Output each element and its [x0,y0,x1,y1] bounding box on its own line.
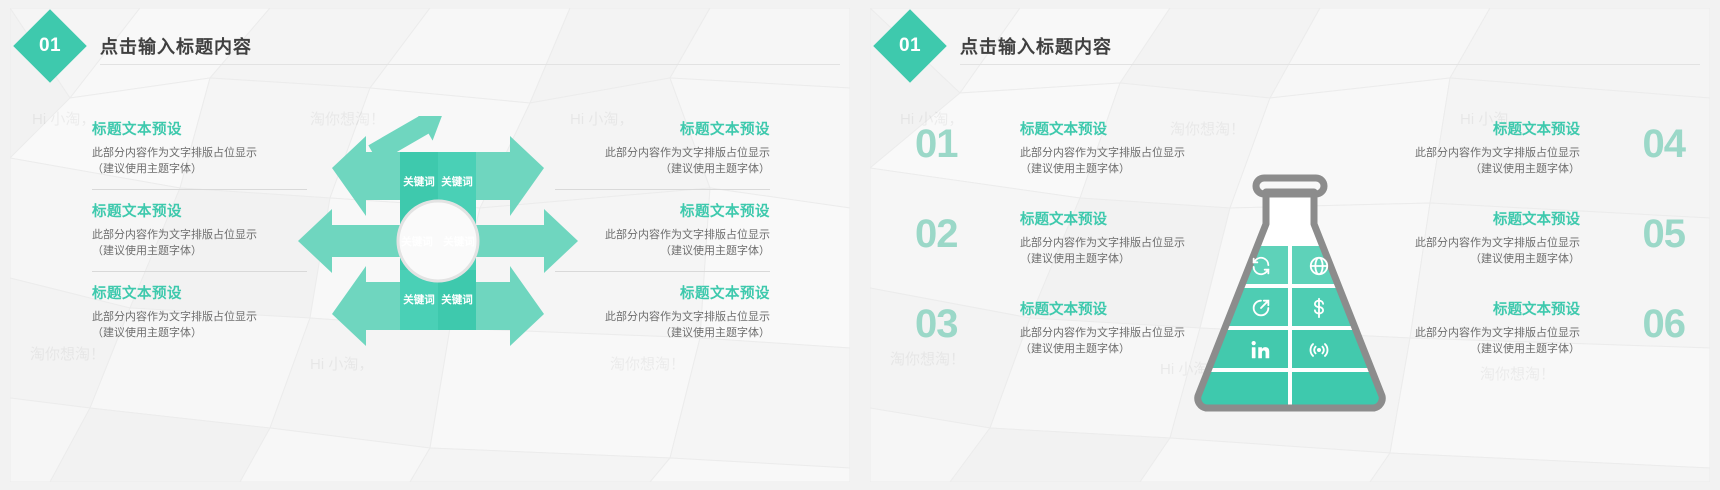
list-item-02: 02 标题文本预设 此部分内容作为文字排版占位显示 （建议使用主题字体） [915,208,1195,268]
list-item-04-line2: （建议使用主题字体） [1405,162,1580,178]
globe-icon [1306,253,1332,279]
dollar-icon [1306,295,1332,321]
slide-right: 01 点击输入标题内容 Hi 小淘， 淘你想淘！ Hi 小淘， 淘你想淘！ Hi… [860,0,1720,490]
slide-right-content: 01 点击输入标题内容 Hi 小淘， 淘你想淘！ Hi 小淘， 淘你想淘！ Hi… [870,8,1710,482]
text-block-2: 标题文本预设 此部分内容作为文字排版占位显示 （建议使用主题字体） [92,200,307,272]
list-item-06-line1: 此部分内容作为文字排版占位显示 [1405,326,1580,342]
list-item-04-number: 04 [1643,124,1686,164]
list-item-03: 03 标题文本预设 此部分内容作为文字排版占位显示 （建议使用主题字体） [915,298,1195,358]
slide-right-title: 点击输入标题内容 [960,33,1112,59]
keyword-label-5: 关键词 [400,292,438,307]
text-block-3-title: 标题文本预设 [92,282,307,303]
slide-left: 01 点击输入标题内容 Hi 小淘， 淘你想淘！ Hi 小淘， 淘你想淘！ Hi… [0,0,860,490]
keyword-label-4: 关键词 [438,234,480,249]
slide-left-title: 点击输入标题内容 [100,33,252,59]
wifi-icon [1306,337,1332,363]
list-item-05-line1: 此部分内容作为文字排版占位显示 [1405,236,1580,252]
text-block-3: 标题文本预设 此部分内容作为文字排版占位显示 （建议使用主题字体） [92,282,307,342]
list-item-05-line2: （建议使用主题字体） [1405,252,1580,268]
list-item-04-line1: 此部分内容作为文字排版占位显示 [1405,146,1580,162]
header-divider-right [960,64,1700,65]
list-item-06-number: 06 [1643,304,1686,344]
hexagon-arrow-diagram: 关键词 关键词 关键词 关键词 关键词 关键词 [288,116,588,366]
text-block-3-line1: 此部分内容作为文字排版占位显示 [92,310,307,326]
list-item-02-number: 02 [915,214,958,254]
text-block-1-title: 标题文本预设 [92,118,307,139]
slide-left-content: 01 点击输入标题内容 Hi 小淘， 淘你想淘！ Hi 小淘， 淘你想淘！ Hi… [10,8,850,482]
slide-right-header: 01 点击输入标题内容 [870,8,1710,80]
keyword-label-6: 关键词 [438,292,476,307]
presentation-canvas: 01 点击输入标题内容 Hi 小淘， 淘你想淘！ Hi 小淘， 淘你想淘！ Hi… [0,0,1720,490]
text-block-1: 标题文本预设 此部分内容作为文字排版占位显示 （建议使用主题字体） [92,118,307,190]
flask-diagram [1160,96,1420,436]
text-block-1-line1: 此部分内容作为文字排版占位显示 [92,146,307,162]
list-item-05-number: 05 [1643,214,1686,254]
list-item-06: 06 标题文本预设 此部分内容作为文字排版占位显示 （建议使用主题字体） [1405,298,1685,358]
list-item-06-title: 标题文本预设 [1405,298,1580,319]
keyword-label-3: 关键词 [396,234,438,249]
flask-graphic [1160,96,1420,436]
list-item-03-number: 03 [915,304,958,344]
text-block-3-line2: （建议使用主题字体） [92,326,307,342]
slide-left-number-badge: 01 [13,9,87,83]
keyword-label-1: 关键词 [400,174,438,189]
text-block-2-line1: 此部分内容作为文字排版占位显示 [92,228,307,244]
target-icon [1248,295,1274,321]
slide-right-number: 01 [899,35,921,57]
text-block-2-divider [92,271,307,272]
keyword-label-2: 关键词 [438,174,476,189]
text-block-1-divider [92,189,307,190]
slide-left-number: 01 [39,35,61,57]
list-item-06-line2: （建议使用主题字体） [1405,342,1580,358]
slide-right-number-badge: 01 [873,9,947,83]
slide-left-header: 01 点击输入标题内容 [10,8,850,80]
text-block-1-line2: （建议使用主题字体） [92,162,307,178]
list-item-04-title: 标题文本预设 [1405,118,1580,139]
text-block-2-line2: （建议使用主题字体） [92,244,307,260]
list-item-04: 04 标题文本预设 此部分内容作为文字排版占位显示 （建议使用主题字体） [1405,118,1685,178]
list-item-05: 05 标题文本预设 此部分内容作为文字排版占位显示 （建议使用主题字体） [1405,208,1685,268]
header-divider-left [100,64,840,65]
refresh-icon [1248,253,1274,279]
text-block-2-title: 标题文本预设 [92,200,307,221]
linkedin-icon [1248,337,1274,363]
list-item-05-title: 标题文本预设 [1405,208,1580,229]
list-item-01-number: 01 [915,124,958,164]
list-item-01: 01 标题文本预设 此部分内容作为文字排版占位显示 （建议使用主题字体） [915,118,1195,178]
